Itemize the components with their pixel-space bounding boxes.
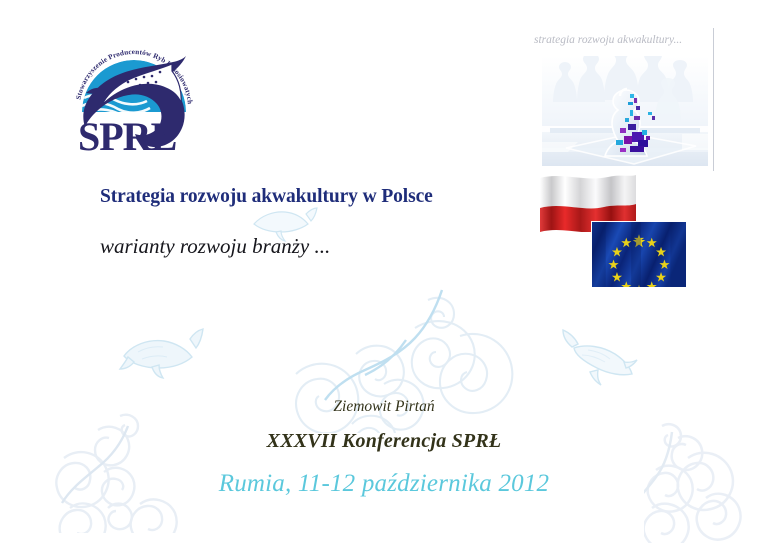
sprl-logo: Stowarzyszenie Producentów Ryb Łososiowa… bbox=[68, 32, 200, 154]
fish-left-decoration bbox=[112, 322, 207, 386]
european-union-flag bbox=[591, 221, 687, 288]
logo-acronym: SPRŁ bbox=[78, 114, 176, 154]
author-name: Ziemowit Pirtań bbox=[0, 398, 768, 416]
chess-image-caption: strategia rozwoju akwakultury... bbox=[534, 34, 682, 46]
title-block: Strategia rozwoju akwakultury w Polsce w… bbox=[100, 186, 520, 259]
right-image-column: strategia rozwoju akwakultury... bbox=[524, 28, 734, 300]
place-and-date: Rumia, 11-12 października 2012 bbox=[0, 470, 768, 498]
slide-title: Strategia rozwoju akwakultury w Polsce bbox=[100, 186, 520, 208]
conference-name: XXXVII Konferencja SPRŁ bbox=[0, 430, 768, 453]
slide-subtitle: warianty rozwoju branży ... bbox=[100, 234, 520, 259]
fish-right-decoration bbox=[554, 328, 646, 390]
chess-photo bbox=[542, 56, 708, 166]
presentation-slide: Stowarzyszenie Producentów Ryb Łososiowa… bbox=[0, 0, 768, 543]
